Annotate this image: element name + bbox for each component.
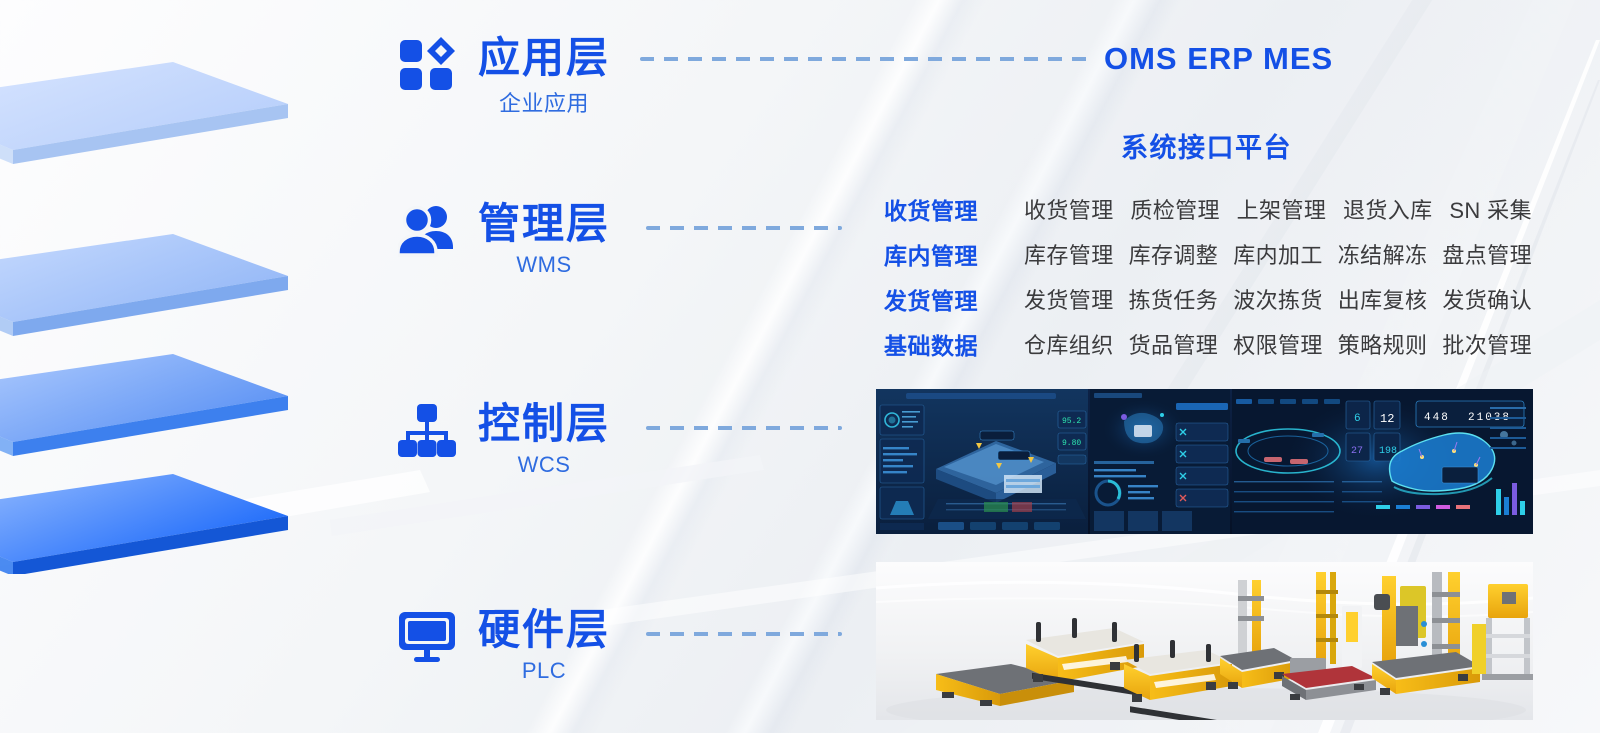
- matrix-cell: 上架管理: [1237, 193, 1327, 225]
- connector-dash-application: [640, 57, 1090, 61]
- matrix-cell: 出库复核: [1338, 283, 1428, 315]
- matrix-cell: 发货确认: [1442, 283, 1532, 315]
- layer-subtitle-control: WCS: [478, 452, 610, 478]
- matrix-row-head: 收货管理: [884, 192, 1002, 226]
- hardware-illustration: [876, 562, 1533, 720]
- matrix-cell: 发货管理: [1024, 283, 1114, 315]
- matrix-cell: 货品管理: [1129, 328, 1219, 360]
- matrix-row: 基础数据 仓库组织 货品管理 权限管理 策略规则 批次管理: [884, 321, 1532, 366]
- matrix-cell: SN 采集: [1449, 193, 1532, 225]
- matrix-cell: 仓库组织: [1024, 328, 1114, 360]
- plate-application: [0, 62, 288, 164]
- layer-subtitle-application: 企业应用: [478, 86, 610, 118]
- matrix-row: 库内管理 库存管理 库存调整 库内加工 冻结解冻 盘点管理: [884, 231, 1532, 276]
- layered-plates-graphic: [0, 44, 358, 564]
- apps-grid-icon: [398, 36, 456, 94]
- layer-row-management: 管理层 WMS: [398, 202, 610, 278]
- matrix-cell: 冻结解冻: [1338, 238, 1428, 270]
- matrix-cell: 批次管理: [1442, 328, 1532, 360]
- matrix-cell: 策略规则: [1338, 328, 1428, 360]
- connector-dash-control: [646, 426, 842, 430]
- layer-row-hardware: 硬件层 PLC: [398, 608, 610, 684]
- svg-text:6: 6: [1354, 413, 1361, 425]
- users-icon: [398, 202, 456, 260]
- matrix-cell: 库内加工: [1233, 238, 1323, 270]
- monitor-icon: [398, 608, 456, 666]
- matrix-row: 发货管理 发货管理 拣货任务 波次拣货 出库复核 发货确认: [884, 276, 1532, 321]
- connector-dash-management: [646, 226, 842, 230]
- svg-text:448: 448: [1424, 412, 1450, 424]
- matrix-cell: 质检管理: [1130, 193, 1220, 225]
- matrix-cell: 库存调整: [1129, 238, 1219, 270]
- matrix-cell: 波次拣货: [1233, 283, 1323, 315]
- svg-text:95.2: 95.2: [1062, 417, 1081, 426]
- sitemap-icon: [398, 402, 456, 460]
- matrix-cell: 退货入库: [1343, 193, 1433, 225]
- matrix-cell: 收货管理: [1024, 193, 1114, 225]
- hardware-equipment-image: [876, 562, 1533, 720]
- matrix-cell: 盘点管理: [1442, 238, 1532, 270]
- plate-management: [0, 234, 288, 336]
- interface-platform-label: 系统接口平台: [1121, 126, 1292, 165]
- layer-subtitle-management: WMS: [478, 252, 610, 278]
- svg-text:27: 27: [1351, 446, 1363, 457]
- layer-title-application: 应用层: [478, 34, 610, 81]
- layer-title-control: 控制层: [478, 400, 610, 447]
- plate-hardware: [0, 474, 288, 574]
- matrix-row-head: 发货管理: [884, 282, 1002, 316]
- matrix-row-head: 库内管理: [884, 237, 1002, 271]
- svg-text:12: 12: [1380, 412, 1394, 426]
- layer-row-application: 应用层 企业应用: [398, 36, 610, 118]
- wcs-dashboard-image: 95.2 9.80: [876, 389, 1533, 534]
- matrix-cell: 拣货任务: [1129, 283, 1219, 315]
- matrix-cell: 库存管理: [1024, 238, 1114, 270]
- layer-row-control: 控制层 WCS: [398, 402, 610, 478]
- stacked-plates-illustration: [0, 44, 358, 574]
- connector-dash-hardware: [646, 632, 842, 636]
- layer-title-management: 管理层: [478, 200, 610, 247]
- matrix-row-head: 基础数据: [884, 327, 1002, 361]
- layer-title-hardware: 硬件层: [478, 606, 610, 653]
- application-systems-label: OMS ERP MES: [1104, 41, 1333, 77]
- matrix-cell: 权限管理: [1233, 328, 1323, 360]
- layer-subtitle-hardware: PLC: [478, 658, 610, 684]
- wms-function-matrix: 收货管理 收货管理 质检管理 上架管理 退货入库 SN 采集 库内管理 库存管理…: [884, 186, 1532, 366]
- dashboard-illustration: 95.2 9.80: [876, 389, 1533, 534]
- svg-text:9.80: 9.80: [1062, 439, 1081, 448]
- plate-control: [0, 354, 288, 456]
- matrix-row: 收货管理 收货管理 质检管理 上架管理 退货入库 SN 采集: [884, 186, 1532, 231]
